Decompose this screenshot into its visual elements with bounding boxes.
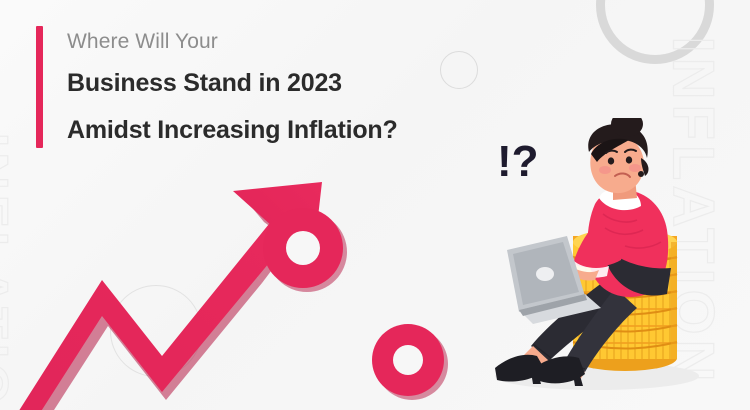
headline-block: Where Will Your Business Stand in 2023 A… xyxy=(36,26,398,148)
headline-kicker: Where Will Your xyxy=(67,31,398,52)
percent-ring-upper xyxy=(263,208,347,292)
percent-growth-arrow-icon xyxy=(0,180,490,410)
head xyxy=(588,118,648,200)
inflation-banner: INFLATION INFLATION xyxy=(0,0,750,410)
accent-bar xyxy=(36,26,43,148)
thought-marks-text: !? xyxy=(497,137,539,186)
woman-with-laptop-on-coin-stack-illustration: !? xyxy=(475,118,725,400)
headline-text-group: Where Will Your Business Stand in 2023 A… xyxy=(67,26,398,148)
percent-ring-lower xyxy=(372,324,448,400)
arrow-shaft xyxy=(0,182,322,410)
headline-line-1: Business Stand in 2023 xyxy=(67,71,398,96)
decorative-ring-small-icon xyxy=(440,51,478,89)
decorative-ring-large-icon xyxy=(596,0,714,64)
headline-line-2: Amidst Increasing Inflation? xyxy=(67,118,398,143)
